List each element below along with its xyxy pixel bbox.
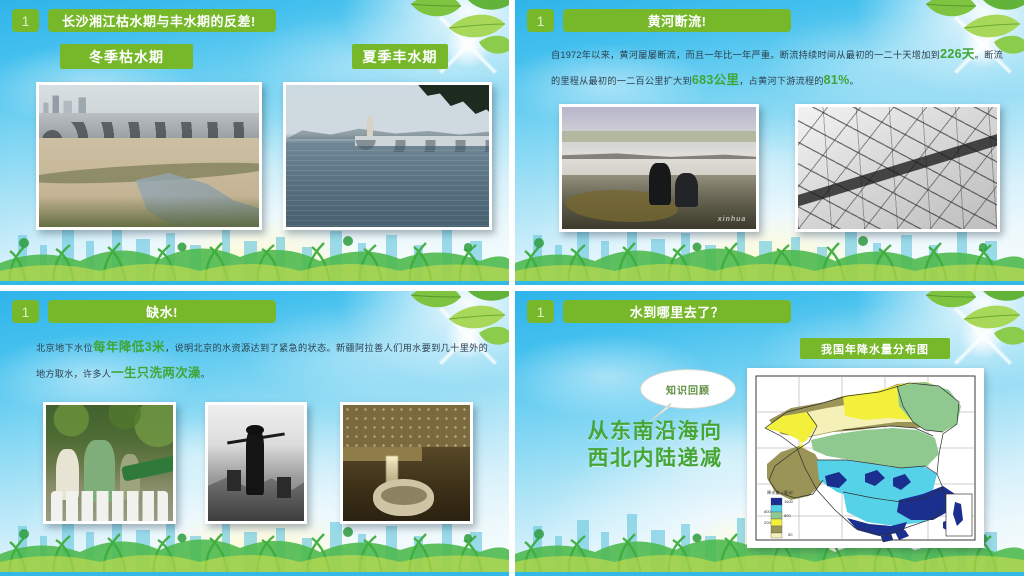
china-precipitation-map[interactable]: 降水量（毫米） 1600 800 800 200 50 xyxy=(747,368,984,548)
bubble-label: 知识回顾 xyxy=(666,382,710,397)
slide-2-title: 黄河断流! xyxy=(563,9,791,32)
svg-text:800: 800 xyxy=(764,509,771,514)
svg-text:降水量（毫米）: 降水量（毫米） xyxy=(767,489,796,496)
slide-2-bottom-rule xyxy=(515,281,1024,285)
photo-watermark: xinhua xyxy=(718,216,747,223)
map-title: 我国年降水量分布图 xyxy=(800,338,950,359)
photo-villagers-collecting-water[interactable] xyxy=(43,402,176,524)
photo-dry-riverbed[interactable] xyxy=(36,82,262,230)
slide-3-bottom-rule xyxy=(0,572,509,576)
slide-deck-grid: 1 长沙湘江枯水期与丰水期的反差! 冬季枯水期 夏季丰水期 xyxy=(0,0,1024,577)
slide-2-header: 1 黄河断流! xyxy=(527,9,1012,32)
slide-3-paragraph: 北京地下水位每年降低3米，说明北京的水资源达到了紧急的状态。新疆阿拉善人们用水要… xyxy=(36,335,488,386)
key-statement-line-2: 西北内陆递减 xyxy=(575,446,735,473)
para-part-1: 自1972年以来，黄河屡屡断流，而且一年比一年严重。断流持续时间从最初的一二十天… xyxy=(551,50,940,60)
para-highlight-1: 226天 xyxy=(940,47,975,61)
svg-text:1600: 1600 xyxy=(784,499,794,504)
photo-cracked-earth[interactable] xyxy=(795,104,1000,232)
para-part-3: 。 xyxy=(201,369,210,379)
photo-yellow-river-dry-bed[interactable]: xinhua xyxy=(559,104,759,232)
slide-4-key-statement: 从东南沿海向 西北内陆递减 xyxy=(575,419,735,473)
slide-1-chip-winter: 冬季枯水期 xyxy=(60,44,193,69)
slide-4-header: 1 水到哪里去了？ xyxy=(527,300,1012,323)
para-part-4: 。 xyxy=(850,76,859,86)
slide-1-chip-summer: 夏季丰水期 xyxy=(352,44,448,69)
photo-full-river[interactable] xyxy=(283,82,492,230)
para-highlight-2: 一生只洗两次澡 xyxy=(111,366,201,380)
slide-2-number-badge: 1 xyxy=(527,9,554,32)
para-highlight-3: 81% xyxy=(824,73,850,87)
slide-1-title: 长沙湘江枯水期与丰水期的反差! xyxy=(48,9,276,32)
slide-1-header: 1 长沙湘江枯水期与丰水期的反差! xyxy=(12,9,497,32)
slide-3-number-badge: 1 xyxy=(12,300,39,323)
svg-text:50: 50 xyxy=(788,532,793,537)
slide-4-bottom-rule xyxy=(515,572,1024,576)
slide-1-bottom-rule xyxy=(0,281,509,285)
photo-muddy-water-basin[interactable] xyxy=(340,402,473,524)
slide-1[interactable]: 1 长沙湘江枯水期与丰水期的反差! 冬季枯水期 夏季丰水期 xyxy=(0,0,509,285)
photo-man-carrying-buckets[interactable] xyxy=(205,402,307,524)
slide-2[interactable]: 1 黄河断流! 自1972年以来，黄河屡屡断流，而且一年比一年严重。断流持续时间… xyxy=(515,0,1024,285)
svg-text:200: 200 xyxy=(764,520,771,525)
para-highlight-2: 683公里 xyxy=(692,73,739,87)
slide-3-title: 缺水! xyxy=(48,300,276,323)
slide-3[interactable]: 1 缺水! 北京地下水位每年降低3米，说明北京的水资源达到了紧急的状态。新疆阿拉… xyxy=(0,291,509,576)
slide-4[interactable]: 1 水到哪里去了？ 知识回顾 从东南沿海向 西北内陆递减 我国年降水量分布图 xyxy=(515,291,1024,576)
slide-2-paragraph: 自1972年以来，黄河屡屡断流，而且一年比一年严重。断流持续时间从最初的一二十天… xyxy=(551,42,1003,93)
slide-3-header: 1 缺水! xyxy=(12,300,497,323)
para-part-3: ，占黄河下游流程的 xyxy=(739,76,824,86)
para-highlight-1: 每年降低3米 xyxy=(93,340,165,354)
slide-1-number-badge: 1 xyxy=(12,9,39,32)
para-part-1: 北京地下水位 xyxy=(36,343,93,353)
slide-4-title: 水到哪里去了？ xyxy=(563,300,791,323)
slide-4-number-badge: 1 xyxy=(527,300,554,323)
key-statement-line-1: 从东南沿海向 xyxy=(575,419,735,446)
svg-text:800: 800 xyxy=(784,513,791,518)
knowledge-review-bubble: 知识回顾 xyxy=(640,369,736,409)
